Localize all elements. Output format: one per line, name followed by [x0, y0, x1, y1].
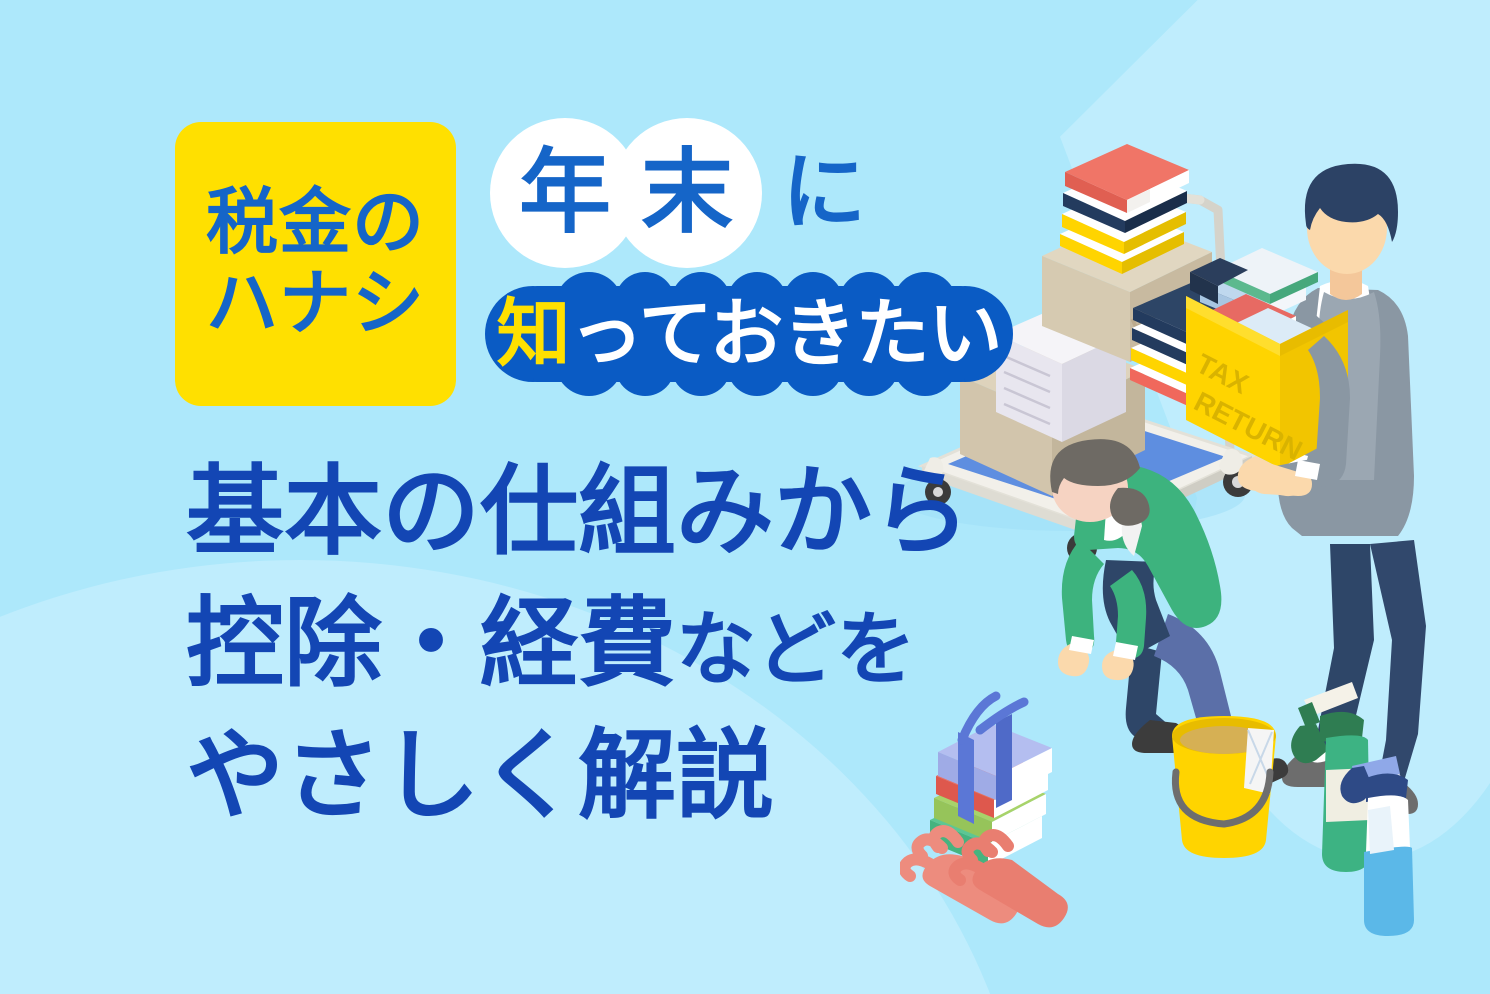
headline-line-2: 控除・経費などを — [186, 594, 970, 692]
cloud-bubble: 知っておきたい — [485, 272, 1013, 396]
cloud-bubble-text: 知っておきたい — [485, 272, 1013, 396]
headline-line-2-suffix: などを — [676, 605, 916, 694]
circle-matsu-text: 末 — [641, 147, 733, 239]
headline-line-3: やさしく解説 — [186, 726, 970, 824]
headline-block: 基本の仕組みから 控除・経費などを やさしく解説 — [186, 462, 970, 858]
cloud-text-rest: っておきたい — [569, 297, 1001, 371]
cloud-text-highlight: 知 — [496, 297, 569, 371]
particle-ni: に — [782, 150, 866, 234]
headline-line-2-emphasis: 控除・経費 — [186, 588, 676, 698]
badge-line-1: 税金の — [206, 187, 425, 260]
circle-nen-text: 年 — [519, 147, 611, 239]
yellow-bucket — [1172, 716, 1276, 858]
headline-line-1: 基本の仕組みから — [186, 462, 970, 560]
tax-cleanup-illustration: EXPENSES — [900, 120, 1490, 950]
tax-topic-badge: 税金の ハナシ — [175, 122, 456, 406]
badge-line-2: ハナシ — [206, 268, 425, 341]
circle-matsu: 末 — [612, 118, 762, 268]
poster-canvas: EXPENSES — [0, 0, 1490, 994]
